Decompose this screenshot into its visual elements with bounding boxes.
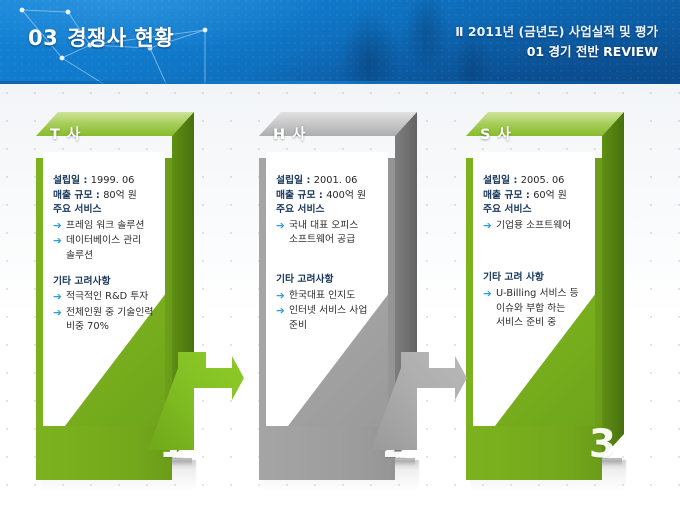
note-line-1: 인터넷 서비스 사업 <box>289 304 388 319</box>
arrow-bullet-icon: ➔ <box>483 287 492 302</box>
arrow-bullet-icon: ➔ <box>53 234 62 249</box>
founded-row: 설립일 : 2005. 06 <box>483 174 595 189</box>
founded-row: 설립일 : 1999. 06 <box>53 174 165 189</box>
services-heading: 주요 서비스 <box>53 203 165 218</box>
note-line-1: U-Billing 서비스 등 <box>496 287 595 302</box>
revenue-value: 400억 원 <box>326 190 366 201</box>
arrow-bullet-icon: ➔ <box>53 290 62 305</box>
note-line-2: 비중 70% <box>66 320 165 335</box>
revenue-row: 매출 규모 : 400억 원 <box>276 189 388 204</box>
founded-label: 설립일 : <box>53 175 91 186</box>
company-card-3[interactable]: 3 S 사 설립일 : 2005. 06 매출 규모 : 60억 원 주요 서비… <box>466 112 626 462</box>
step-number-badge: 1 <box>159 425 186 464</box>
service-line-1: 기업용 소프트웨어 <box>496 219 595 234</box>
revenue-label: 매출 규모 : <box>276 190 326 201</box>
arrow-bullet-icon: ➔ <box>276 304 285 319</box>
service-item: ➔ 국내 대표 오피스 소프트웨어 공급 <box>276 219 388 248</box>
spacer <box>53 264 165 275</box>
note-line-3: 서비스 준비 중 <box>496 316 595 331</box>
founded-label: 설립일 : <box>483 175 521 186</box>
service-item: ➔ 기업용 소프트웨어 <box>483 219 595 234</box>
note-line-1: 전체인원 중 기술인력 <box>66 306 165 321</box>
slide-root: 03경쟁사 현황 Ⅱ 2011년 (금년도) 사업실적 및 평가 01 경기 전… <box>0 0 680 510</box>
revenue-label: 매출 규모 : <box>53 190 103 201</box>
spacer <box>276 248 388 273</box>
service-item: ➔ 프레임 워크 솔루션 <box>53 219 165 234</box>
company-details: 설립일 : 1999. 06 매출 규모 : 80억 원 주요 서비스 ➔ 프레… <box>53 174 165 335</box>
note-line-2: 준비 <box>289 319 388 334</box>
company-name: S 사 <box>480 123 512 144</box>
founded-row: 설립일 : 2001. 06 <box>276 174 388 189</box>
note-item: ➔ 한국대표 인지도 <box>276 289 388 304</box>
service-line-1: 데이터베이스 관리 <box>66 234 165 249</box>
step-number-badge: 2 <box>382 425 409 464</box>
notes-heading: 기타 고려사항 <box>276 273 388 288</box>
service-line-1: 프레임 워크 솔루션 <box>66 219 165 234</box>
founded-value: 2005. 06 <box>521 175 565 186</box>
founded-label: 설립일 : <box>276 175 314 186</box>
services-heading: 주요 서비스 <box>276 203 388 218</box>
company-name: T 사 <box>50 123 81 144</box>
notes-heading: 기타 고려 사항 <box>483 271 595 286</box>
box-right-face <box>172 112 194 458</box>
note-line-1: 한국대표 인지도 <box>289 289 388 304</box>
company-card-2[interactable]: 2 H 사 설립일 : 2001. 06 매출 규모 : 400억 원 주요 서… <box>259 112 419 462</box>
box-right-face <box>602 112 624 458</box>
revenue-value: 80억 원 <box>103 190 137 201</box>
note-line-1: 적극적인 R&D 투자 <box>66 290 165 305</box>
note-line-2: 이슈와 부합 하는 <box>496 302 595 317</box>
service-line-1: 국내 대표 오피스 <box>289 219 388 234</box>
revenue-row: 매출 규모 : 80억 원 <box>53 189 165 204</box>
notes-heading: 기타 고려사항 <box>53 275 165 290</box>
company-details: 설립일 : 2001. 06 매출 규모 : 400억 원 주요 서비스 ➔ 국… <box>276 174 388 333</box>
note-item: ➔ 전체인원 중 기술인력 비중 70% <box>53 306 165 335</box>
founded-value: 1999. 06 <box>91 175 135 186</box>
service-line-2: 솔루션 <box>66 249 165 264</box>
service-line-2: 소프트웨어 공급 <box>289 233 388 248</box>
note-item: ➔ U-Billing 서비스 등 이슈와 부합 하는 서비스 준비 중 <box>483 287 595 331</box>
company-card-1[interactable]: 1 T 사 설립일 : 1999. 06 매출 규모 : 80억 원 주요 서비… <box>36 112 196 462</box>
founded-value: 2001. 06 <box>314 175 358 186</box>
service-item: ➔ 데이터베이스 관리 솔루션 <box>53 234 165 263</box>
revenue-value: 60억 원 <box>533 190 567 201</box>
company-details: 설립일 : 2005. 06 매출 규모 : 60억 원 주요 서비스 ➔ 기업… <box>483 174 595 331</box>
services-heading: 주요 서비스 <box>483 203 595 218</box>
note-item: ➔ 인터넷 서비스 사업 준비 <box>276 304 388 333</box>
company-columns: 1 T 사 설립일 : 1999. 06 매출 규모 : 80억 원 주요 서비… <box>0 0 680 510</box>
arrow-bullet-icon: ➔ <box>276 289 285 304</box>
arrow-bullet-icon: ➔ <box>276 219 285 234</box>
arrow-bullet-icon: ➔ <box>483 219 492 234</box>
box-right-face <box>395 112 417 458</box>
company-name: H 사 <box>273 123 307 144</box>
revenue-label: 매출 규모 : <box>483 190 533 201</box>
note-item: ➔ 적극적인 R&D 투자 <box>53 290 165 305</box>
revenue-row: 매출 규모 : 60억 원 <box>483 189 595 204</box>
arrow-bullet-icon: ➔ <box>53 219 62 234</box>
step-number-badge: 3 <box>589 425 616 464</box>
arrow-bullet-icon: ➔ <box>53 306 62 321</box>
spacer <box>483 233 595 271</box>
